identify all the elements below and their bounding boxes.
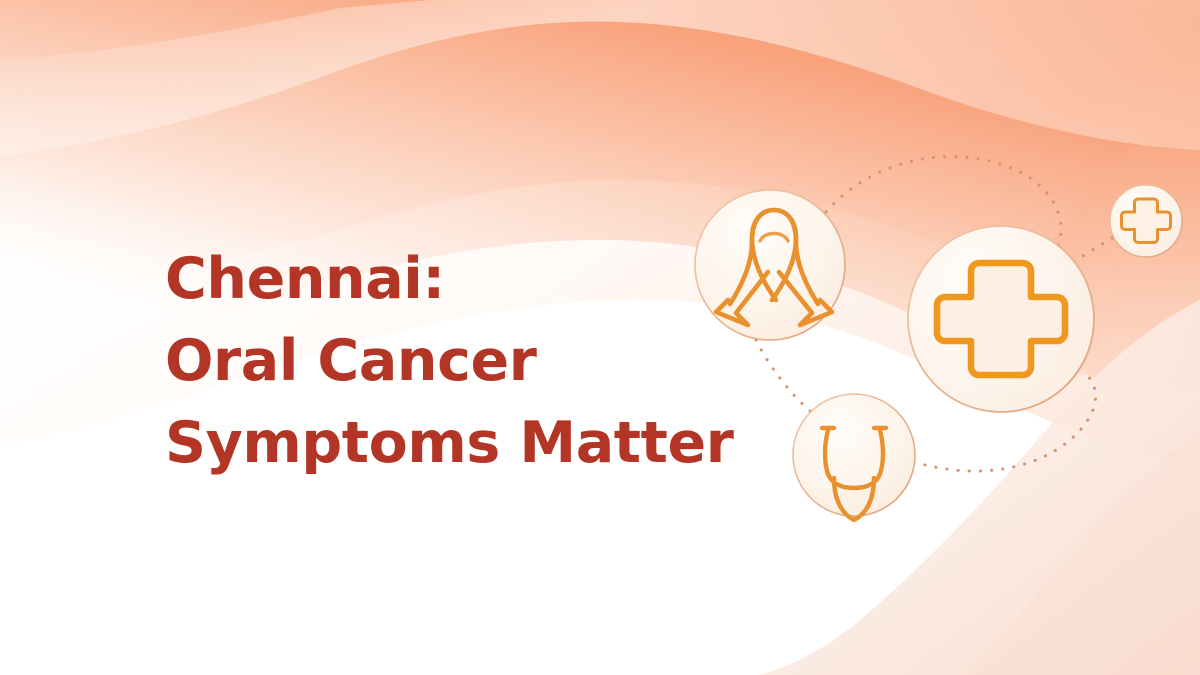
icon-bubble-stethoscope[interactable]: [793, 394, 915, 520]
icon-cluster: [660, 130, 1200, 550]
icon-bubble-medical-cross[interactable]: [908, 226, 1094, 412]
icon-bubble-medical-cross-small[interactable]: [1110, 185, 1182, 257]
content-layer: Chennai: Oral Cancer Symptoms Matter: [0, 0, 1200, 675]
stethoscope-bubble-background: [793, 394, 915, 516]
banner-root: Chennai: Oral Cancer Symptoms Matter: [0, 0, 1200, 675]
icon-bubble-ribbon[interactable]: [695, 190, 845, 340]
connector-ribbon-to-stethoscope: [756, 340, 816, 416]
connector-cross-to-badge: [1074, 234, 1120, 262]
